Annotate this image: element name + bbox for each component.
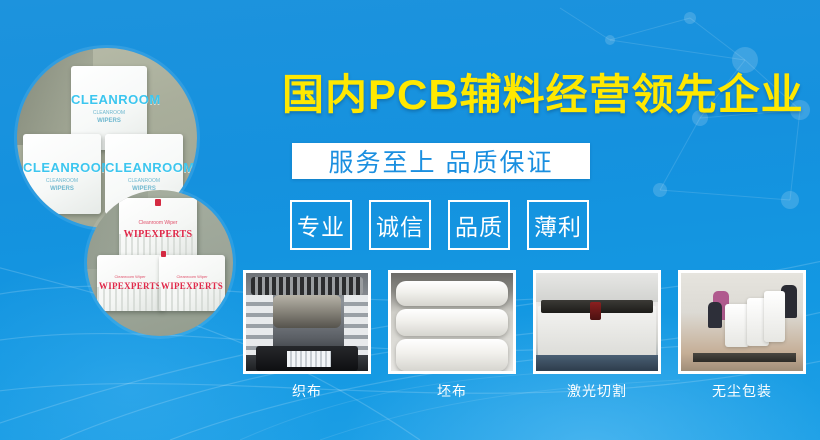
laser-cutting-photo[interactable] xyxy=(533,270,661,374)
feature-tag-quality[interactable]: 品质 xyxy=(448,200,510,250)
machine-drum xyxy=(273,295,341,328)
cleanroom-packaging-photo[interactable] xyxy=(678,270,806,374)
wipexperts-stamp xyxy=(155,199,161,206)
photo-caption: 无尘包装 xyxy=(678,381,806,401)
feature-tag-integrity[interactable]: 诚信 xyxy=(369,200,431,250)
fabric-roll xyxy=(396,281,508,306)
machine-crown xyxy=(251,277,363,295)
promo-banner: CLEANROOM CLEANROOM WIPERS CLEANROOM CLE… xyxy=(0,0,820,440)
feature-tag-professional[interactable]: 专业 xyxy=(290,200,352,250)
cleanroom-subtext-1: CLEANROOM xyxy=(71,110,147,116)
worker-figure xyxy=(708,302,723,327)
fabric-roll xyxy=(396,309,508,335)
cleanroom-subtext-2: WIPERS xyxy=(71,118,147,124)
slogan-bar: 服务至上 品质保证 xyxy=(292,143,590,179)
process-photo-item-packing[interactable]: 无尘包装 xyxy=(678,270,806,401)
feature-tag-list: 专业 诚信 品质 薄利 xyxy=(290,200,589,250)
photo-caption: 坯布 xyxy=(388,381,516,401)
workshop-wall xyxy=(536,273,658,302)
wipexperts-subtext: Cleanroom Wiper xyxy=(159,274,225,279)
wipexperts-pack-left: Cleanroom Wiper WIPEXPERTS xyxy=(97,255,163,311)
wipexperts-pack-top: Cleanroom Wiper WIPEXPERTS xyxy=(119,198,197,260)
wipexperts-brand-text: WIPEXPERTS xyxy=(97,281,163,291)
photo-caption: 激光切割 xyxy=(533,381,661,401)
process-photo-item-weaving[interactable]: 织布 xyxy=(243,270,371,401)
feature-tag-label: 薄利 xyxy=(534,208,582,242)
packed-goods-stack xyxy=(725,304,749,347)
wipexperts-subtext: Cleanroom Wiper xyxy=(119,220,197,226)
feature-tag-label: 诚信 xyxy=(376,208,424,242)
work-bench xyxy=(693,353,795,362)
feature-tag-low-margin[interactable]: 薄利 xyxy=(527,200,589,250)
packed-goods-stack xyxy=(764,291,785,342)
fabric-roll xyxy=(396,339,508,371)
photo-caption: 织布 xyxy=(243,381,371,401)
slogan-text: 服务至上 品质保证 xyxy=(329,143,554,179)
wipexperts-subtext: Cleanroom Wiper xyxy=(97,274,163,279)
cleanroom-brand-text: CLEANROOM xyxy=(23,160,101,175)
process-photo-item-greige[interactable]: 坯布 xyxy=(388,270,516,401)
knitting-machine-photo[interactable] xyxy=(243,270,371,374)
process-photo-item-laser[interactable]: 激光切割 xyxy=(533,270,661,401)
fabric-rolls-photo[interactable] xyxy=(388,270,516,374)
feature-tag-label: 专业 xyxy=(297,208,345,242)
pack-texture xyxy=(159,287,225,311)
wipexperts-stamp xyxy=(161,251,166,257)
wipexperts-brand-text: WIPEXPERTS xyxy=(119,229,197,240)
pack-texture xyxy=(97,287,163,311)
cleanroom-brand-text: CLEANROOM xyxy=(105,160,183,175)
feature-tag-label: 品质 xyxy=(455,208,503,242)
product-photo-wipexperts-circle: Cleanroom Wiper WIPEXPERTS Cleanroom Wip… xyxy=(87,190,233,336)
wipexperts-brand-text: WIPEXPERTS xyxy=(159,281,225,291)
process-photo-strip: 织布 坯布 激光切割 xyxy=(243,270,806,401)
laser-head xyxy=(590,302,601,320)
banner-headline: 国内PCB辅料经营领先企业 xyxy=(282,74,802,116)
knitted-fabric xyxy=(287,351,331,367)
cleanroom-subtext-1: CLEANROOM xyxy=(105,178,183,184)
cleanroom-subtext-1: CLEANROOM xyxy=(23,178,101,184)
wipexperts-pack-right: Cleanroom Wiper WIPEXPERTS xyxy=(159,255,225,311)
cleanroom-brand-text: CLEANROOM xyxy=(71,92,147,107)
machine-body xyxy=(536,355,658,371)
